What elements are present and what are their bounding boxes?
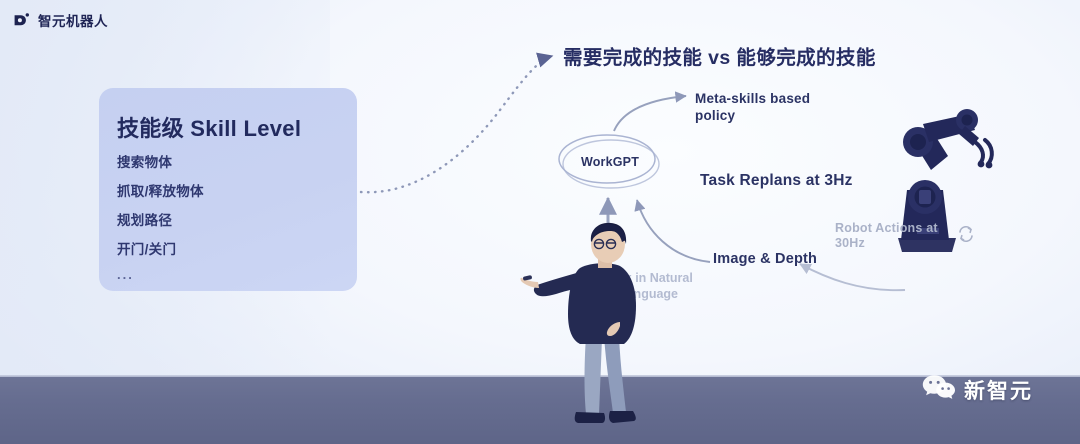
label-image-depth: Image & Depth — [713, 251, 817, 268]
skill-level-card: 技能级 Skill Level 搜索物体 抓取/释放物体 规划路径 开门/关门 … — [99, 88, 357, 291]
list-item: 搜索物体 — [117, 151, 204, 171]
brand-name: 智元机器人 — [38, 10, 108, 30]
skill-card-title: 技能级 Skill Level — [117, 111, 301, 143]
screenshot-stage: 智元机器人 技能级 Skill Level 搜索物体 抓取/释放物体 规划路径 … — [0, 0, 1080, 444]
presenter-figure — [520, 218, 690, 444]
workgpt-node-label: WorkGPT — [572, 155, 648, 169]
skill-card-list: 搜索物体 抓取/释放物体 规划路径 开门/关门 ... — [117, 151, 204, 282]
label-task-replans: Task Replans at 3Hz — [700, 172, 853, 190]
list-item: 开门/关门 — [117, 238, 204, 258]
list-item: 规划路径 — [117, 209, 204, 229]
label-robot-actions: Robot Actions at 30Hz — [835, 221, 953, 251]
watermark: 新智元 — [922, 374, 1033, 406]
brand-logo: 智元机器人 — [12, 10, 108, 30]
watermark-text: 新智元 — [964, 375, 1033, 405]
list-ellipsis: ... — [117, 267, 204, 282]
robot-d-mark-icon — [12, 11, 31, 30]
slide-headline: 需要完成的技能 vs 能够完成的技能 — [563, 41, 876, 70]
wechat-icon — [922, 374, 956, 406]
list-item: 抓取/释放物体 — [117, 180, 204, 200]
label-meta-skills-policy: Meta-skills based policy — [695, 90, 825, 124]
